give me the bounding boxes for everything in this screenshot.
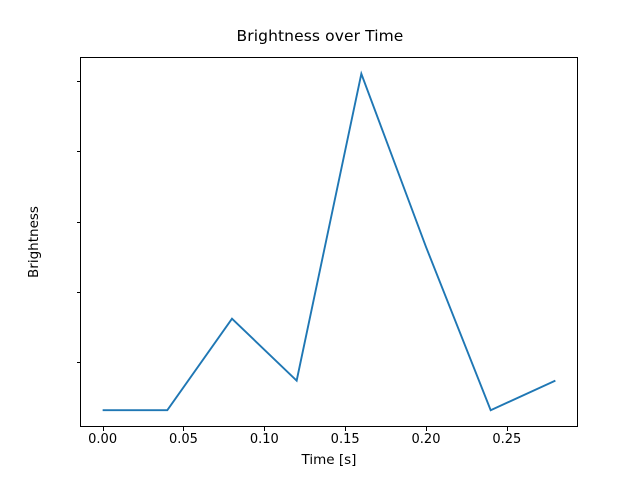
x-tick-mark (264, 427, 265, 431)
x-tick-mark (103, 427, 104, 431)
x-tick-mark (183, 427, 184, 431)
matplotlib-figure: Brightness over Time Brightness 50100150… (0, 0, 640, 480)
chart-title: Brightness over Time (0, 27, 640, 45)
y-tick-mark (77, 151, 81, 152)
y-axis-label: Brightness (26, 57, 42, 427)
data-line (103, 74, 556, 410)
y-tick-mark (77, 81, 81, 82)
y-tick-mark (77, 362, 81, 363)
x-tick-mark (507, 427, 508, 431)
x-tick-mark (345, 427, 346, 431)
x-tick-mark (426, 427, 427, 431)
line-series-brightness (80, 57, 578, 427)
y-tick-mark (77, 292, 81, 293)
plot-axes: 50100150200250 0.000.050.100.150.200.25 (80, 57, 578, 427)
x-axis-label: Time [s] (80, 452, 578, 468)
y-tick-mark (77, 222, 81, 223)
x-tick-label: 0.25 (447, 433, 567, 446)
